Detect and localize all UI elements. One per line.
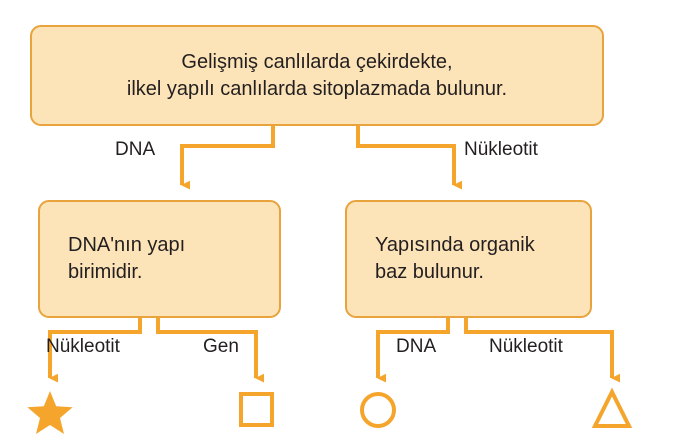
triangle-shape[interactable] — [595, 392, 629, 426]
edge-label-root-to-left: DNA — [115, 139, 155, 161]
square-shape[interactable] — [241, 394, 272, 425]
edge-label-right-to-triangle: Nükleotit — [489, 336, 563, 358]
left-statement-text: DNA'nın yapı birimidir. — [68, 232, 185, 286]
edge-label-left-to-star: Nükleotit — [46, 336, 120, 358]
right-statement-box: Yapısında organik baz bulunur. — [345, 200, 592, 318]
connector-root-to-left — [182, 126, 273, 185]
root-statement-box: Gelişmiş canlılarda çekirdekte, ilkel ya… — [30, 25, 604, 126]
diagram-canvas: Gelişmiş canlılarda çekirdekte, ilkel ya… — [0, 0, 691, 439]
connector-root-to-right — [358, 126, 454, 185]
star-shape[interactable] — [27, 391, 72, 434]
right-statement-text: Yapısında organik baz bulunur. — [375, 232, 535, 286]
left-statement-box: DNA'nın yapı birimidir. — [38, 200, 281, 318]
edge-label-right-to-circle: DNA — [396, 336, 436, 358]
edge-label-left-to-square: Gen — [203, 336, 239, 358]
edge-label-root-to-right: Nükleotit — [464, 139, 538, 161]
root-statement-text: Gelişmiş canlılarda çekirdekte, ilkel ya… — [127, 49, 507, 103]
circle-shape[interactable] — [362, 394, 394, 426]
